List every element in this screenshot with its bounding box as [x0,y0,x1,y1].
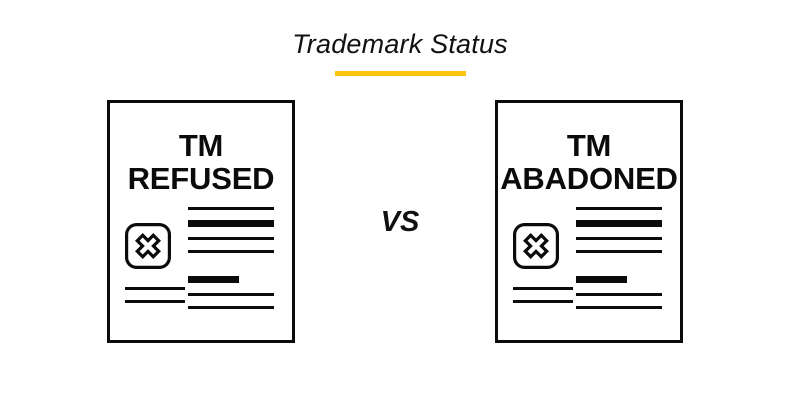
document-text-lines-primary [576,207,662,253]
text-line [576,293,662,296]
text-line [513,300,573,303]
text-line [188,276,239,283]
text-line [125,300,185,303]
document-heading-line2: ABADONED [484,162,694,195]
text-line [576,237,662,240]
text-line [513,287,573,290]
document-heading-line1: TM [484,129,694,162]
text-line [125,287,185,290]
page-title: Trademark Status [0,28,800,60]
document-heading-refused: TM REFUSED [96,129,306,195]
page-title-block: Trademark Status [0,28,800,76]
document-text-lines-secondary [576,276,662,309]
text-line [576,306,662,309]
document-text-lines-secondary [188,276,274,309]
text-line [576,207,662,210]
x-mark-icon [513,223,559,269]
document-heading-line2: REFUSED [96,162,306,195]
text-line [576,250,662,253]
text-line [576,276,627,283]
trademark-status-infographic: Trademark Status TM REFUSED [0,0,800,400]
document-heading-line1: TM [96,129,306,162]
title-underline-accent [335,71,466,76]
text-line [188,250,274,253]
document-heading-abandoned: TM ABADONED [484,129,694,195]
text-line [576,220,662,227]
document-text-lines-left [125,287,185,303]
document-text-lines-left [513,287,573,303]
document-body-abandoned [498,207,680,346]
text-line [188,293,274,296]
document-card-abandoned: TM ABADONED [495,100,683,343]
text-line [188,306,274,309]
